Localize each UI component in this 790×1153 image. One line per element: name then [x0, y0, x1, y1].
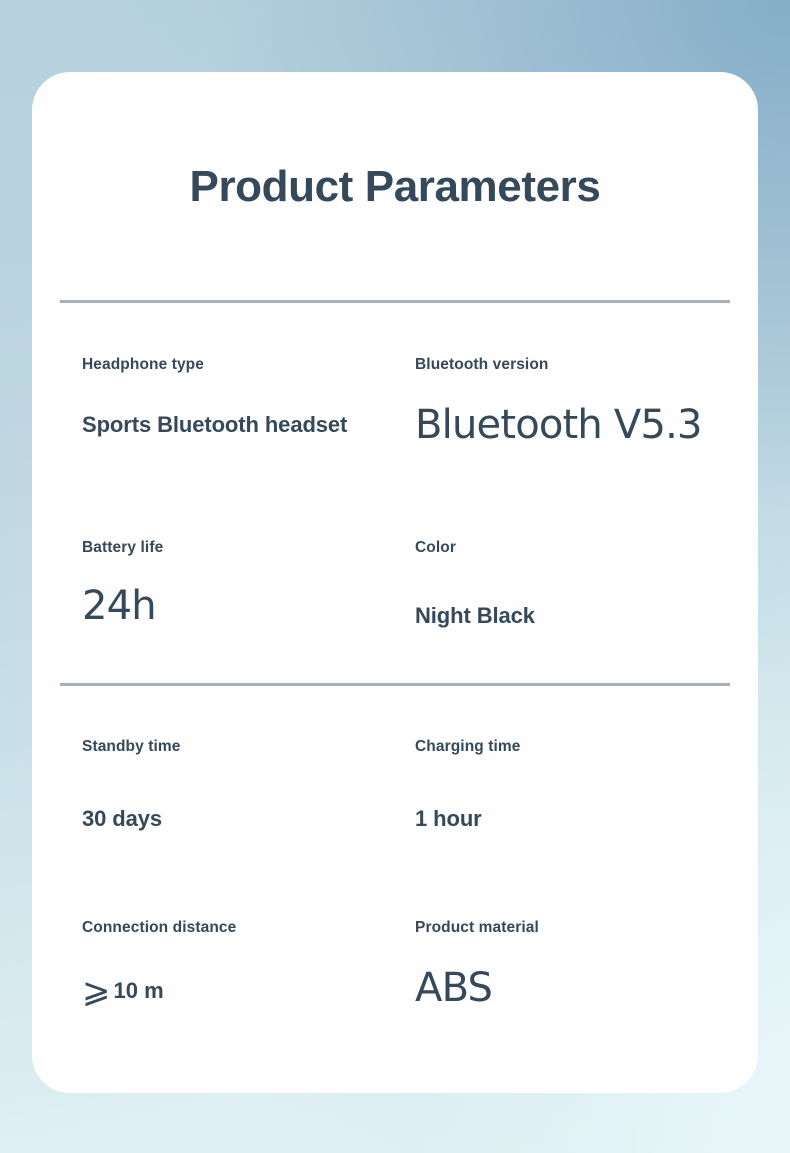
parameter-value-text: 10 m [114, 978, 164, 1003]
parameter-value: 24h [82, 583, 156, 629]
parameter-cell-color: Color Night Black [395, 539, 730, 629]
parameter-label: Standby time [82, 738, 395, 756]
parameter-value: Night Black [415, 603, 535, 629]
parameter-cell-standby-time: Standby time 30 days [60, 738, 395, 832]
parameter-label: Headphone type [82, 356, 395, 374]
parameter-row: Headphone type Sports Bluetooth headset … [60, 356, 730, 448]
parameter-value: Sports Bluetooth headset [82, 412, 347, 438]
parameter-row: Connection distance ⩾10 m Product materi… [60, 919, 730, 1067]
parameter-value: 30 days [82, 806, 162, 832]
parameter-label: Charging time [415, 738, 730, 756]
parameter-cell-charging-time: Charging time 1 hour [395, 738, 730, 832]
parameter-row: Battery life 24h Color Night Black [60, 539, 730, 683]
parameter-cell-battery-life: Battery life 24h [60, 539, 395, 629]
parameter-label: Connection distance [82, 919, 395, 937]
parameter-cell-headphone-type: Headphone type Sports Bluetooth headset [60, 356, 395, 448]
parameter-row: Standby time 30 days Charging time 1 hou… [60, 738, 730, 832]
greater-than-or-equal-icon: ⩾ [82, 971, 111, 1011]
parameter-cell-product-material: Product material ABS [395, 919, 730, 1011]
parameter-value: ⩾10 m [82, 971, 164, 1011]
parameter-label: Color [415, 539, 730, 557]
parameter-label: Battery life [82, 539, 395, 557]
parameter-label: Product material [415, 919, 730, 937]
page-title: Product Parameters [32, 162, 758, 212]
parameter-value: ABS [415, 965, 492, 1011]
parameter-cell-bluetooth-version: Bluetooth version Bluetooth V5.3 [395, 356, 730, 448]
parameter-group-top: Headphone type Sports Bluetooth headset … [32, 303, 758, 683]
parameter-value: Bluetooth V5.3 [415, 402, 702, 448]
parameter-value: 1 hour [415, 806, 482, 832]
product-parameters-card: Product Parameters Headphone type Sports… [32, 72, 758, 1093]
parameter-label: Bluetooth version [415, 356, 730, 374]
parameter-cell-connection-distance: Connection distance ⩾10 m [60, 919, 395, 1011]
parameter-group-bottom: Standby time 30 days Charging time 1 hou… [32, 686, 758, 1067]
